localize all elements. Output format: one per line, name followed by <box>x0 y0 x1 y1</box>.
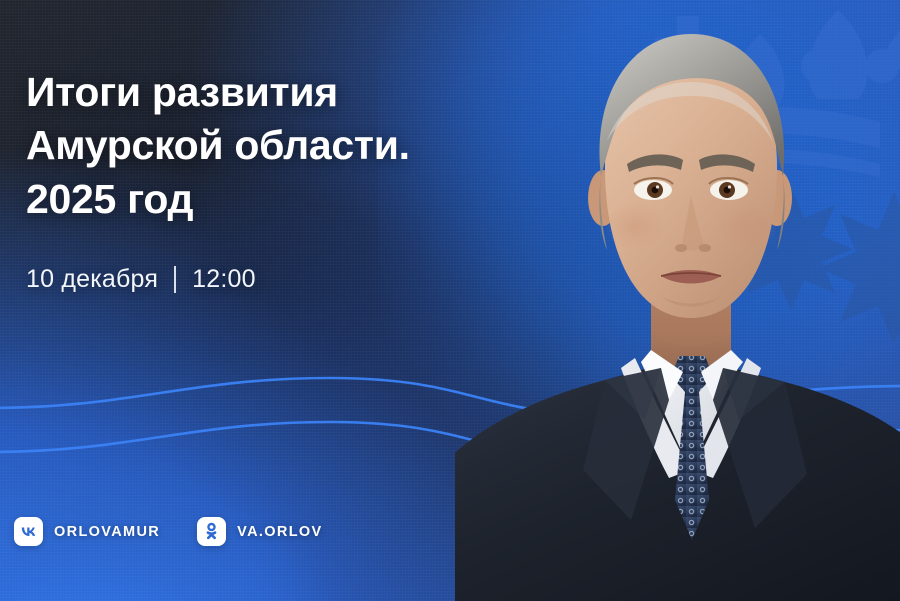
social-label-vk: ORLOVAMUR <box>54 524 160 540</box>
decorative-wave-lines <box>0 372 900 502</box>
datetime-separator <box>174 266 176 293</box>
heraldic-ornaments <box>600 0 900 360</box>
social-links: ORLOVAMUR VA.ORLOV <box>14 517 323 546</box>
vk-icon <box>14 517 43 546</box>
social-link-vk[interactable]: ORLOVAMUR <box>14 517 160 546</box>
social-label-odnoklassniki: VA.ORLOV <box>237 524 322 540</box>
event-datetime: 10 декабря 12:00 <box>26 265 496 294</box>
banner-text-block: Итоги развития Амурской области. 2025 го… <box>26 66 496 294</box>
event-time: 12:00 <box>192 265 256 294</box>
event-date: 10 декабря <box>26 265 158 294</box>
social-link-odnoklassniki[interactable]: VA.ORLOV <box>197 517 322 546</box>
event-announcement-banner: Итоги развития Амурской области. 2025 го… <box>0 0 900 601</box>
odnoklassniki-icon <box>197 517 226 546</box>
page-title: Итоги развития Амурской области. 2025 го… <box>26 66 496 226</box>
